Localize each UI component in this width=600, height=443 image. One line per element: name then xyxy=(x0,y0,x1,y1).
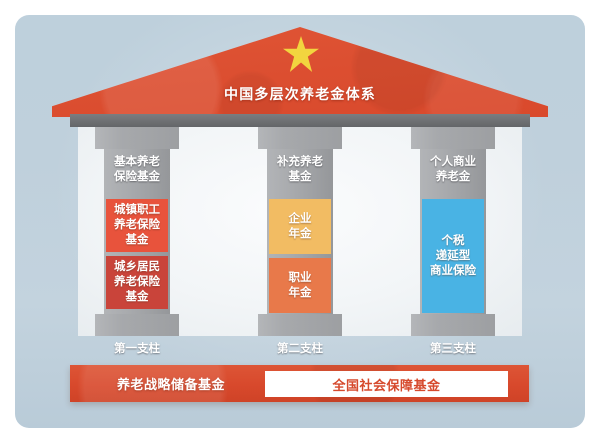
infographic-canvas: 中国多层次养老金体系 基本养老 保险基金 城镇职工 养老保险 基金 xyxy=(0,0,600,443)
pillar-third-tier: 个人商业 养老金 个税 递延型 商业保险 xyxy=(411,127,495,336)
pillar-3-box-1-line-3: 商业保险 xyxy=(422,264,484,279)
pillar-1-box-1-line-2: 养老保险 xyxy=(106,218,168,233)
pillar-1-box-2[interactable]: 城乡居民 养老保险 基金 xyxy=(106,256,168,309)
pillar-2-box-2-line-1: 职业 xyxy=(269,271,331,286)
pillar-3-box-1-line-2: 递延型 xyxy=(422,249,484,264)
pillar-3-header-line-1: 个人商业 xyxy=(420,155,486,170)
base-label-third-pillar: 第三支柱 xyxy=(411,340,495,356)
pillar-first-tier: 基本养老 保险基金 城镇职工 养老保险 基金 城乡居民 养老保险 基金 xyxy=(95,127,179,336)
pillar-1-box-2-line-2: 养老保险 xyxy=(106,275,168,290)
pillar-capital xyxy=(95,127,179,149)
foundation-bar: 养老战略储备基金 全国社会保障基金 xyxy=(70,365,529,402)
pillar-1-header-line-1: 基本养老 xyxy=(104,155,170,170)
foundation-left-label: 养老战略储备基金 xyxy=(78,365,264,402)
pillar-1-box-1[interactable]: 城镇职工 养老保险 基金 xyxy=(106,199,168,252)
pillar-1-box-1-line-1: 城镇职工 xyxy=(106,203,168,218)
pillar-capital xyxy=(411,127,495,149)
base-label-second-pillar: 第二支柱 xyxy=(258,340,342,356)
pillar-2-header-line-1: 补充养老 xyxy=(267,155,333,170)
temple-diagram: 中国多层次养老金体系 基本养老 保险基金 城镇职工 养老保险 基金 xyxy=(0,0,600,443)
pillar-3-header-line-2: 养老金 xyxy=(420,170,486,185)
pillar-2-box-2-line-2: 年金 xyxy=(269,286,331,301)
pillar-2-header: 补充养老 基金 xyxy=(267,155,333,185)
foundation-white-box[interactable]: 全国社会保障基金 xyxy=(265,371,508,397)
pillar-base xyxy=(95,314,179,336)
pillar-base xyxy=(411,314,495,336)
pillar-3-box-1[interactable]: 个税 递延型 商业保险 xyxy=(422,199,484,313)
entablature-bar xyxy=(70,114,530,127)
pillar-second-tier: 补充养老 基金 企业 年金 职业 年金 xyxy=(258,127,342,336)
pillar-1-box-2-line-1: 城乡居民 xyxy=(106,260,168,275)
pillar-1-header: 基本养老 保险基金 xyxy=(104,155,170,185)
pillar-3-box-1-line-1: 个税 xyxy=(422,234,484,249)
pillar-base xyxy=(258,314,342,336)
page-title: 中国多层次养老金体系 xyxy=(0,84,600,104)
pillar-3-header: 个人商业 养老金 xyxy=(420,155,486,185)
pillar-2-header-line-2: 基金 xyxy=(267,170,333,185)
pillar-capital xyxy=(258,127,342,149)
pillar-1-box-2-line-3: 基金 xyxy=(106,290,168,305)
pillar-1-box-1-line-3: 基金 xyxy=(106,233,168,248)
pillar-2-box-1-line-1: 企业 xyxy=(269,212,331,227)
base-label-first-pillar: 第一支柱 xyxy=(95,340,179,356)
pillar-2-box-1-line-2: 年金 xyxy=(269,227,331,242)
pillar-1-header-line-2: 保险基金 xyxy=(104,170,170,185)
pillar-2-box-1[interactable]: 企业 年金 xyxy=(269,199,331,254)
pillar-2-box-2[interactable]: 职业 年金 xyxy=(269,258,331,313)
